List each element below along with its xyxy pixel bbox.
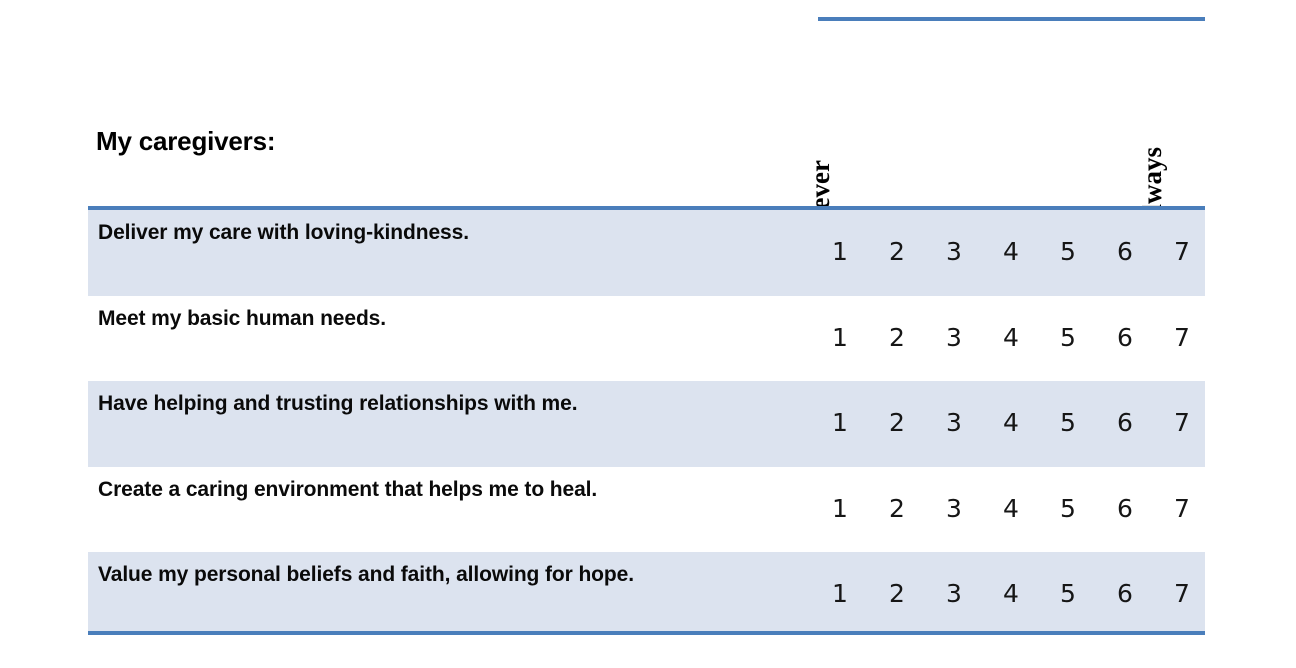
table-row: Deliver my care with loving-kindness.123… xyxy=(88,210,1205,296)
likert-option-7[interactable]: 7 xyxy=(1170,494,1194,523)
likert-option-1[interactable]: 1 xyxy=(828,408,852,437)
likert-scale-row: 1234567 xyxy=(828,552,1198,631)
likert-option-5[interactable]: 5 xyxy=(1056,237,1080,266)
likert-option-1[interactable]: 1 xyxy=(828,323,852,352)
likert-option-3[interactable]: 3 xyxy=(942,323,966,352)
likert-option-6[interactable]: 6 xyxy=(1113,579,1137,608)
likert-scale-row: 1234567 xyxy=(828,210,1198,296)
survey-item-label: Meet my basic human needs. xyxy=(98,303,798,334)
survey-item-label: Value my personal beliefs and faith, all… xyxy=(98,559,798,590)
likert-scale-row: 1234567 xyxy=(828,296,1198,381)
table-row: Value my personal beliefs and faith, all… xyxy=(88,552,1205,631)
likert-option-7[interactable]: 7 xyxy=(1170,237,1194,266)
likert-option-5[interactable]: 5 xyxy=(1056,494,1080,523)
likert-option-3[interactable]: 3 xyxy=(942,408,966,437)
likert-scale-row: 1234567 xyxy=(828,381,1198,467)
likert-option-4[interactable]: 4 xyxy=(999,237,1023,266)
survey-header: My caregivers: xyxy=(88,30,1205,208)
likert-option-1[interactable]: 1 xyxy=(828,579,852,608)
survey-item-label: Deliver my care with loving-kindness. xyxy=(98,217,798,248)
likert-option-6[interactable]: 6 xyxy=(1113,408,1137,437)
likert-option-2[interactable]: 2 xyxy=(885,408,909,437)
likert-option-5[interactable]: 5 xyxy=(1056,579,1080,608)
survey-item-label: Have helping and trusting relationships … xyxy=(98,388,798,419)
header-top-rule xyxy=(818,17,1205,21)
likert-survey-table: My caregivers: Never Always Deliver my c… xyxy=(0,0,1296,668)
likert-option-2[interactable]: 2 xyxy=(885,237,909,266)
likert-option-6[interactable]: 6 xyxy=(1113,494,1137,523)
table-row: Meet my basic human needs.1234567 xyxy=(88,296,1205,381)
table-row: Have helping and trusting relationships … xyxy=(88,381,1205,467)
likert-option-6[interactable]: 6 xyxy=(1113,323,1137,352)
likert-option-3[interactable]: 3 xyxy=(942,494,966,523)
survey-item-label: Create a caring environment that helps m… xyxy=(98,474,798,505)
table-bottom-rule xyxy=(88,631,1205,635)
likert-scale-row: 1234567 xyxy=(828,467,1198,552)
likert-option-5[interactable]: 5 xyxy=(1056,408,1080,437)
likert-option-7[interactable]: 7 xyxy=(1170,579,1194,608)
likert-option-5[interactable]: 5 xyxy=(1056,323,1080,352)
likert-option-4[interactable]: 4 xyxy=(999,494,1023,523)
likert-option-7[interactable]: 7 xyxy=(1170,323,1194,352)
likert-option-1[interactable]: 1 xyxy=(828,237,852,266)
likert-option-4[interactable]: 4 xyxy=(999,323,1023,352)
likert-option-3[interactable]: 3 xyxy=(942,237,966,266)
likert-option-2[interactable]: 2 xyxy=(885,323,909,352)
survey-item-list: Deliver my care with loving-kindness.123… xyxy=(88,210,1205,631)
likert-option-2[interactable]: 2 xyxy=(885,579,909,608)
likert-option-6[interactable]: 6 xyxy=(1113,237,1137,266)
likert-option-3[interactable]: 3 xyxy=(942,579,966,608)
table-row: Create a caring environment that helps m… xyxy=(88,467,1205,552)
likert-option-1[interactable]: 1 xyxy=(828,494,852,523)
likert-option-4[interactable]: 4 xyxy=(999,408,1023,437)
page-title: My caregivers: xyxy=(96,126,275,157)
likert-option-7[interactable]: 7 xyxy=(1170,408,1194,437)
likert-option-2[interactable]: 2 xyxy=(885,494,909,523)
likert-option-4[interactable]: 4 xyxy=(999,579,1023,608)
